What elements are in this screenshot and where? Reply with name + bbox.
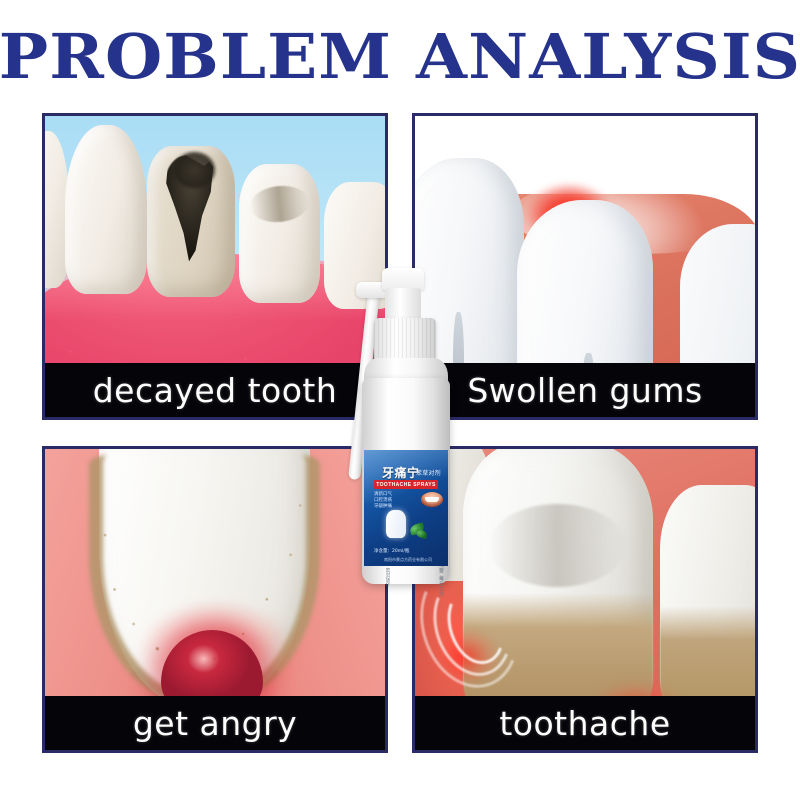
label-company: 南阳市景点方药业有限公司 — [372, 557, 444, 563]
tooth-shape — [239, 164, 321, 302]
poster-root: PROBLEM ANALYSIS decayed tooth — [0, 0, 800, 800]
caption-swollen-gums: Swollen gums — [467, 371, 702, 410]
product-name-en: TOOTHACHE SPRAYS — [376, 482, 435, 488]
tooth-icon — [386, 510, 406, 538]
panel-get-angry[interactable]: get angry — [42, 446, 388, 753]
decay-cavity-blur — [174, 152, 215, 188]
product-name-cn: 牙痛宁 — [382, 464, 420, 481]
label-bullet: 牙龈肿痛 — [374, 504, 392, 510]
tooth-cusp-groove — [489, 504, 626, 587]
pump-collar — [374, 318, 436, 362]
mint-leaf-icon — [415, 529, 427, 539]
caption-banner: decayed tooth — [45, 363, 385, 417]
pump-neck — [385, 288, 421, 322]
product-bottle[interactable]: 注意事项 密封保存 使用方法：摇匀后对准患处喷雾 每日三次 牙痛宁 苯草对剂 T… — [352, 268, 460, 594]
smiling-mouth-icon — [421, 492, 443, 507]
tooth-shape — [65, 125, 147, 294]
product-label: 牙痛宁 苯草对剂 TOOTHACHE SPRAYS 清新口气 口腔溃疡 牙龈肿痛… — [364, 450, 448, 566]
pump-head[interactable] — [382, 268, 424, 290]
panel-decayed-tooth[interactable]: decayed tooth — [42, 113, 388, 420]
panel-swollen-gums[interactable]: Swollen gums — [412, 113, 758, 420]
panel-toothache[interactable]: toothache — [412, 446, 758, 753]
caption-decayed-tooth: decayed tooth — [93, 371, 338, 410]
page-title: PROBLEM ANALYSIS — [0, 22, 800, 92]
caption-banner: get angry — [45, 696, 385, 750]
label-volume: 净含量：20ml/瓶 — [374, 548, 409, 554]
product-subtitle-cn: 苯草对剂 — [416, 468, 441, 477]
caption-banner: Swollen gums — [415, 363, 755, 417]
caption-get-angry: get angry — [133, 704, 297, 743]
caption-banner: toothache — [415, 696, 755, 750]
caption-toothache: toothache — [499, 704, 670, 743]
label-bullet-list: 清新口气 口腔溃疡 牙龈肿痛 — [374, 492, 392, 510]
product-name-en-band: TOOTHACHE SPRAYS — [374, 480, 438, 489]
tooth-fissure — [248, 183, 310, 225]
